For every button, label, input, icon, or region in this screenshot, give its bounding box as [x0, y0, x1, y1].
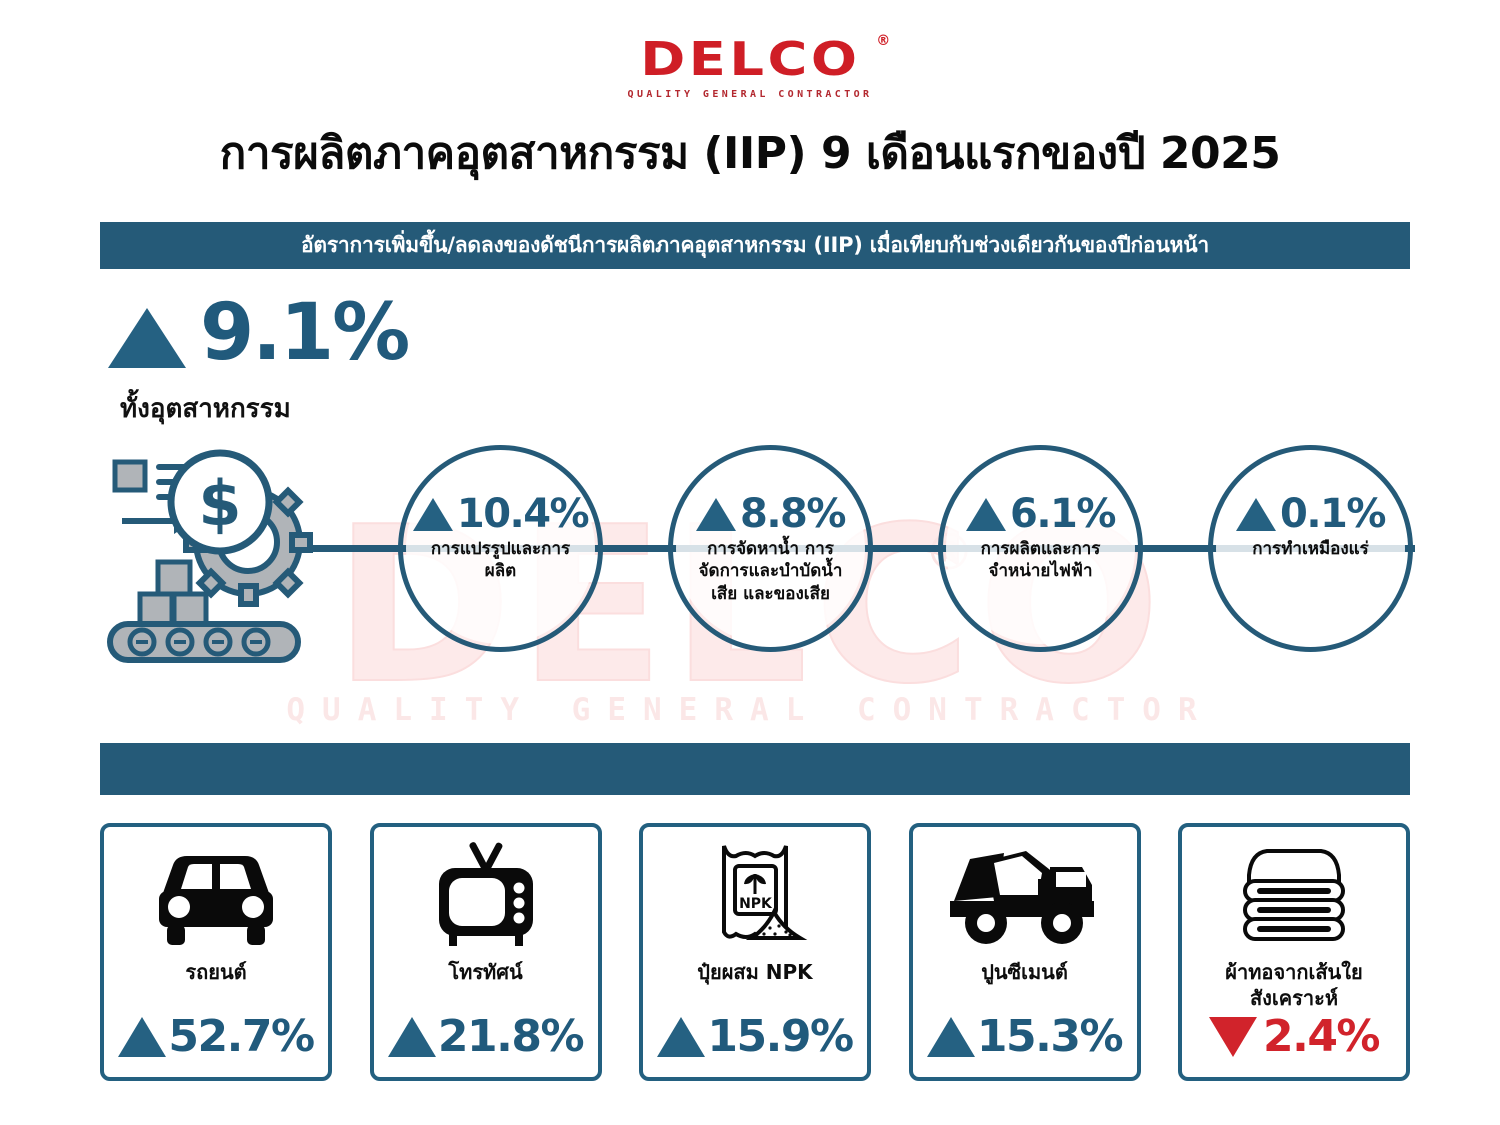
- factory-conveyor-icon: $: [100, 442, 350, 672]
- product-card-list: รถยนต์ 52.7% โทร: [100, 823, 1410, 1081]
- subtitle-bar: อัตราการเพิ่มขึ้น/ลดลงของดัชนีการผลิตภาค…: [100, 222, 1410, 269]
- logo-wordmark-text: DELCO: [640, 32, 860, 86]
- product-value: 15.3%: [977, 1015, 1122, 1059]
- product-card-cement[interactable]: ปูนซีเมนต์ 15.3%: [909, 823, 1141, 1081]
- sector-value: 0.1%: [1280, 494, 1385, 534]
- product-value-group: 2.4%: [1182, 1015, 1406, 1059]
- sector-circle-mining[interactable]: 0.1% การทำเหมืองแร่: [1208, 445, 1413, 652]
- subtitle-bar-label: อัตราการเพิ่มขึ้น/ลดลงของดัชนีการผลิตภาค…: [301, 229, 1209, 262]
- product-value-group: 52.7%: [104, 1015, 328, 1059]
- headline-value: 9.1%: [200, 296, 408, 370]
- triangle-up-icon: [927, 1017, 975, 1057]
- sector-value-group: 8.8%: [696, 494, 845, 534]
- television-icon: [421, 835, 551, 957]
- triangle-up-icon: [966, 498, 1006, 531]
- product-label: รถยนต์: [116, 959, 316, 985]
- headline-stat: 9.1%: [108, 296, 408, 370]
- product-card-television[interactable]: โทรทัศน์ 21.8%: [370, 823, 602, 1081]
- triangle-up-icon: [108, 308, 186, 368]
- triangle-up-icon: [657, 1017, 705, 1057]
- sector-value: 8.8%: [740, 494, 845, 534]
- sector-value: 6.1%: [1010, 494, 1115, 534]
- triangle-up-icon: [1236, 498, 1276, 531]
- delco-logo: DELCO ® QUALITY GENERAL CONTRACTOR: [0, 36, 1500, 100]
- sector-label: การจัดหาน้ำ การจัดการและบำบัดน้ำเสีย และ…: [687, 538, 855, 605]
- page-title: การผลิตภาคอุตสาหกรรม (IIP) 9 เดือนแรกของ…: [0, 118, 1500, 188]
- sector-value-group: 0.1%: [1236, 494, 1385, 534]
- car-icon: [141, 835, 291, 957]
- sector-label: การแปรรูปและการผลิต: [417, 538, 585, 583]
- triangle-up-icon: [118, 1017, 166, 1057]
- product-label: ผ้าทอจากเส้นใยสังเคราะห์: [1194, 959, 1394, 1011]
- infographic-page: DELCO ® QUALITY GENERAL CONTRACTOR DELCO…: [0, 0, 1500, 1125]
- product-value-group: 15.9%: [643, 1015, 867, 1059]
- product-card-car[interactable]: รถยนต์ 52.7%: [100, 823, 332, 1081]
- fertilizer-bag-text: NPK: [739, 896, 773, 912]
- logo-wordmark: DELCO ®: [640, 36, 860, 82]
- headline-label: ทั้งอุตสาหกรรม: [120, 388, 291, 429]
- sector-circle-water-waste[interactable]: 8.8% การจัดหาน้ำ การจัดการและบำบัดน้ำเสี…: [668, 445, 873, 652]
- sector-value: 10.4%: [457, 494, 588, 534]
- product-label: ปูนซีเมนต์: [925, 959, 1125, 985]
- sector-label: การผลิตและการจำหน่ายไฟฟ้า: [957, 538, 1125, 583]
- triangle-up-icon: [388, 1017, 436, 1057]
- product-card-fertilizer[interactable]: NPK ปุ๋ยผสม NPK 15.9%: [639, 823, 871, 1081]
- folded-fabric-icon: [1219, 835, 1369, 957]
- sector-label: การทำเหมืองแร่: [1227, 538, 1395, 560]
- product-value-group: 21.8%: [374, 1015, 598, 1059]
- product-value: 2.4%: [1263, 1015, 1379, 1059]
- product-value: 52.7%: [168, 1015, 313, 1059]
- watermark-tagline: QUALITY GENERAL CONTRACTOR: [286, 692, 1213, 728]
- triangle-up-icon: [696, 498, 736, 531]
- registered-trademark-icon: ®: [876, 34, 890, 48]
- fertilizer-bag-icon: NPK: [690, 835, 820, 957]
- product-label: โทรทัศน์: [386, 959, 586, 985]
- product-card-fabric[interactable]: ผ้าทอจากเส้นใยสังเคราะห์ 2.4%: [1178, 823, 1410, 1081]
- product-label: ปุ๋ยผสม NPK: [655, 959, 855, 985]
- section-divider-bar: [100, 743, 1410, 795]
- cement-mixer-truck-icon: [942, 835, 1107, 957]
- sector-circle-electricity[interactable]: 6.1% การผลิตและการจำหน่ายไฟฟ้า: [938, 445, 1143, 652]
- triangle-down-icon: [1209, 1017, 1257, 1057]
- product-value: 21.8%: [438, 1015, 583, 1059]
- sector-circle-manufacturing[interactable]: 10.4% การแปรรูปและการผลิต: [398, 445, 603, 652]
- triangle-up-icon: [413, 498, 453, 531]
- product-value: 15.9%: [707, 1015, 852, 1059]
- product-value-group: 15.3%: [913, 1015, 1137, 1059]
- logo-tagline: QUALITY GENERAL CONTRACTOR: [0, 89, 1500, 100]
- svg-text:$: $: [198, 467, 241, 540]
- sector-value-group: 10.4%: [413, 494, 588, 534]
- sector-value-group: 6.1%: [966, 494, 1115, 534]
